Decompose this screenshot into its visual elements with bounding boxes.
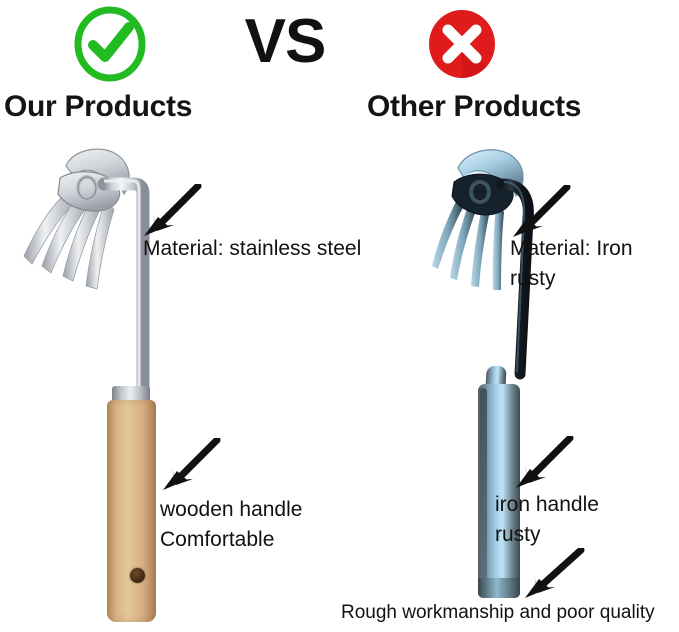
wooden-handle: [107, 400, 156, 622]
hanging-hole: [130, 568, 145, 583]
check-circle-icon: [72, 6, 148, 82]
callout-material-left: Material: stainless steel: [143, 234, 361, 264]
callout-quality: Rough workmanship and poor quality: [341, 598, 655, 628]
callout-material-right: Material: Iron rusty: [510, 234, 633, 294]
column-title-our-products: Our Products: [4, 90, 192, 124]
cross-circle-icon: [424, 6, 500, 82]
arrow-handle-left: [155, 438, 221, 501]
vs-label: VS: [225, 2, 345, 82]
callout-handle-right: iron handle rusty: [495, 490, 599, 550]
column-title-other-products: Other Products: [367, 90, 581, 124]
callout-handle-left: wooden handle Comfortable: [160, 495, 302, 555]
iron-handle-rust-streak: [480, 388, 487, 594]
iron-handle-cap: [478, 578, 520, 598]
comparison-infographic: VS Our Products Other Products: [0, 0, 679, 632]
